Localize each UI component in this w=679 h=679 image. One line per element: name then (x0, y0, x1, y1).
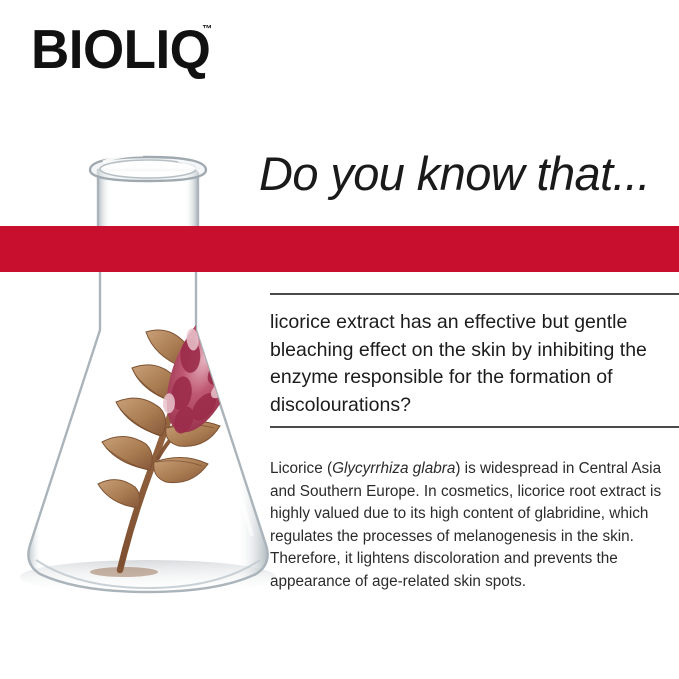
scientific-name: Glycyrrhiza glabra (332, 460, 455, 477)
divider-middle (270, 426, 679, 428)
flask-illustration (8, 140, 288, 605)
red-banner-stripe (0, 226, 679, 272)
page-title: Do you know that... (259, 148, 679, 200)
brand-wordmark: BIOLIQ (31, 22, 210, 77)
divider-top (270, 293, 679, 295)
lead-paragraph: licorice extract has an effective but ge… (270, 309, 674, 419)
promo-page: BIOLIQ ™ (0, 0, 679, 679)
brand-logo: BIOLIQ ™ (31, 22, 212, 72)
detail-text-part2: ) is widespread in Central Asia and Sout… (270, 460, 661, 590)
detail-text-part1: Licorice ( (270, 460, 332, 477)
detail-paragraph: Licorice (Glycyrrhiza glabra) is widespr… (270, 458, 670, 593)
